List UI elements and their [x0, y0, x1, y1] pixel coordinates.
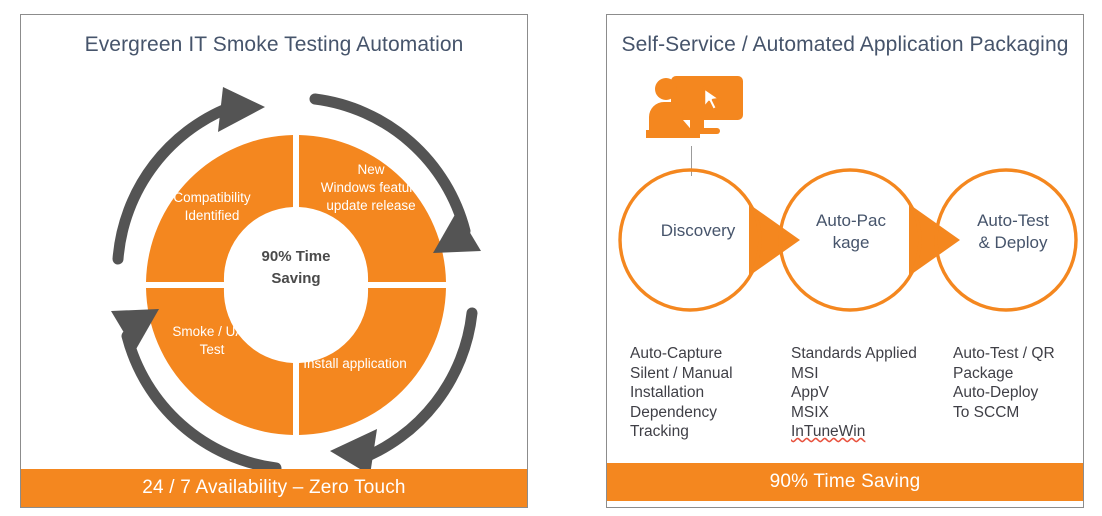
process-flow-diagram — [618, 168, 1078, 312]
left-panel: Evergreen IT Smoke Testing Automation — [20, 14, 528, 508]
cycle-diagram: New Windows feature update release Insta… — [105, 83, 487, 475]
detail-column-discovery: Auto-CaptureSilent / ManualInstallationD… — [630, 344, 790, 442]
detail-line: InTuneWin — [791, 422, 946, 442]
arrowhead-left — [111, 309, 159, 351]
arrowhead-right — [433, 211, 481, 253]
detail-line: AppV — [791, 383, 946, 403]
detail-line: MSIX — [791, 403, 946, 423]
detail-line: Tracking — [630, 422, 790, 442]
circle-auto-package — [780, 170, 920, 310]
detail-line: Auto-Deploy — [953, 383, 1093, 403]
detail-line: Silent / Manual — [630, 364, 790, 384]
left-panel-title: Evergreen IT Smoke Testing Automation — [21, 33, 527, 57]
cycle-center-label: 90% Time Saving — [226, 246, 366, 290]
detail-line: Auto-Test / QR — [953, 344, 1093, 364]
detail-line: Package — [953, 364, 1093, 384]
arrowhead-top — [218, 87, 265, 132]
detail-line: Installation — [630, 383, 790, 403]
circle-discovery — [620, 170, 760, 310]
right-panel-title: Self-Service / Automated Application Pac… — [607, 33, 1083, 57]
slide-canvas: Evergreen IT Smoke Testing Automation — [0, 0, 1102, 516]
detail-line: Standards Applied — [791, 344, 946, 364]
detail-column-packaging: Standards AppliedMSIAppVMSIXInTuneWin — [791, 344, 946, 442]
detail-line: Dependency — [630, 403, 790, 423]
person-at-monitor-icon — [646, 74, 744, 144]
right-footer-text: 90% Time Saving — [770, 471, 921, 493]
left-panel-footer-banner: 24 / 7 Availability – Zero Touch — [21, 469, 527, 507]
right-panel-footer-banner: 90% Time Saving — [607, 463, 1083, 501]
detail-column-deploy: Auto-Test / QRPackageAuto-DeployTo SCCM — [953, 344, 1093, 422]
detail-line: MSI — [791, 364, 946, 384]
detail-line: To SCCM — [953, 403, 1093, 423]
detail-line: Auto-Capture — [630, 344, 790, 364]
left-footer-text: 24 / 7 Availability – Zero Touch — [142, 477, 405, 499]
flow-circles — [620, 170, 1076, 310]
